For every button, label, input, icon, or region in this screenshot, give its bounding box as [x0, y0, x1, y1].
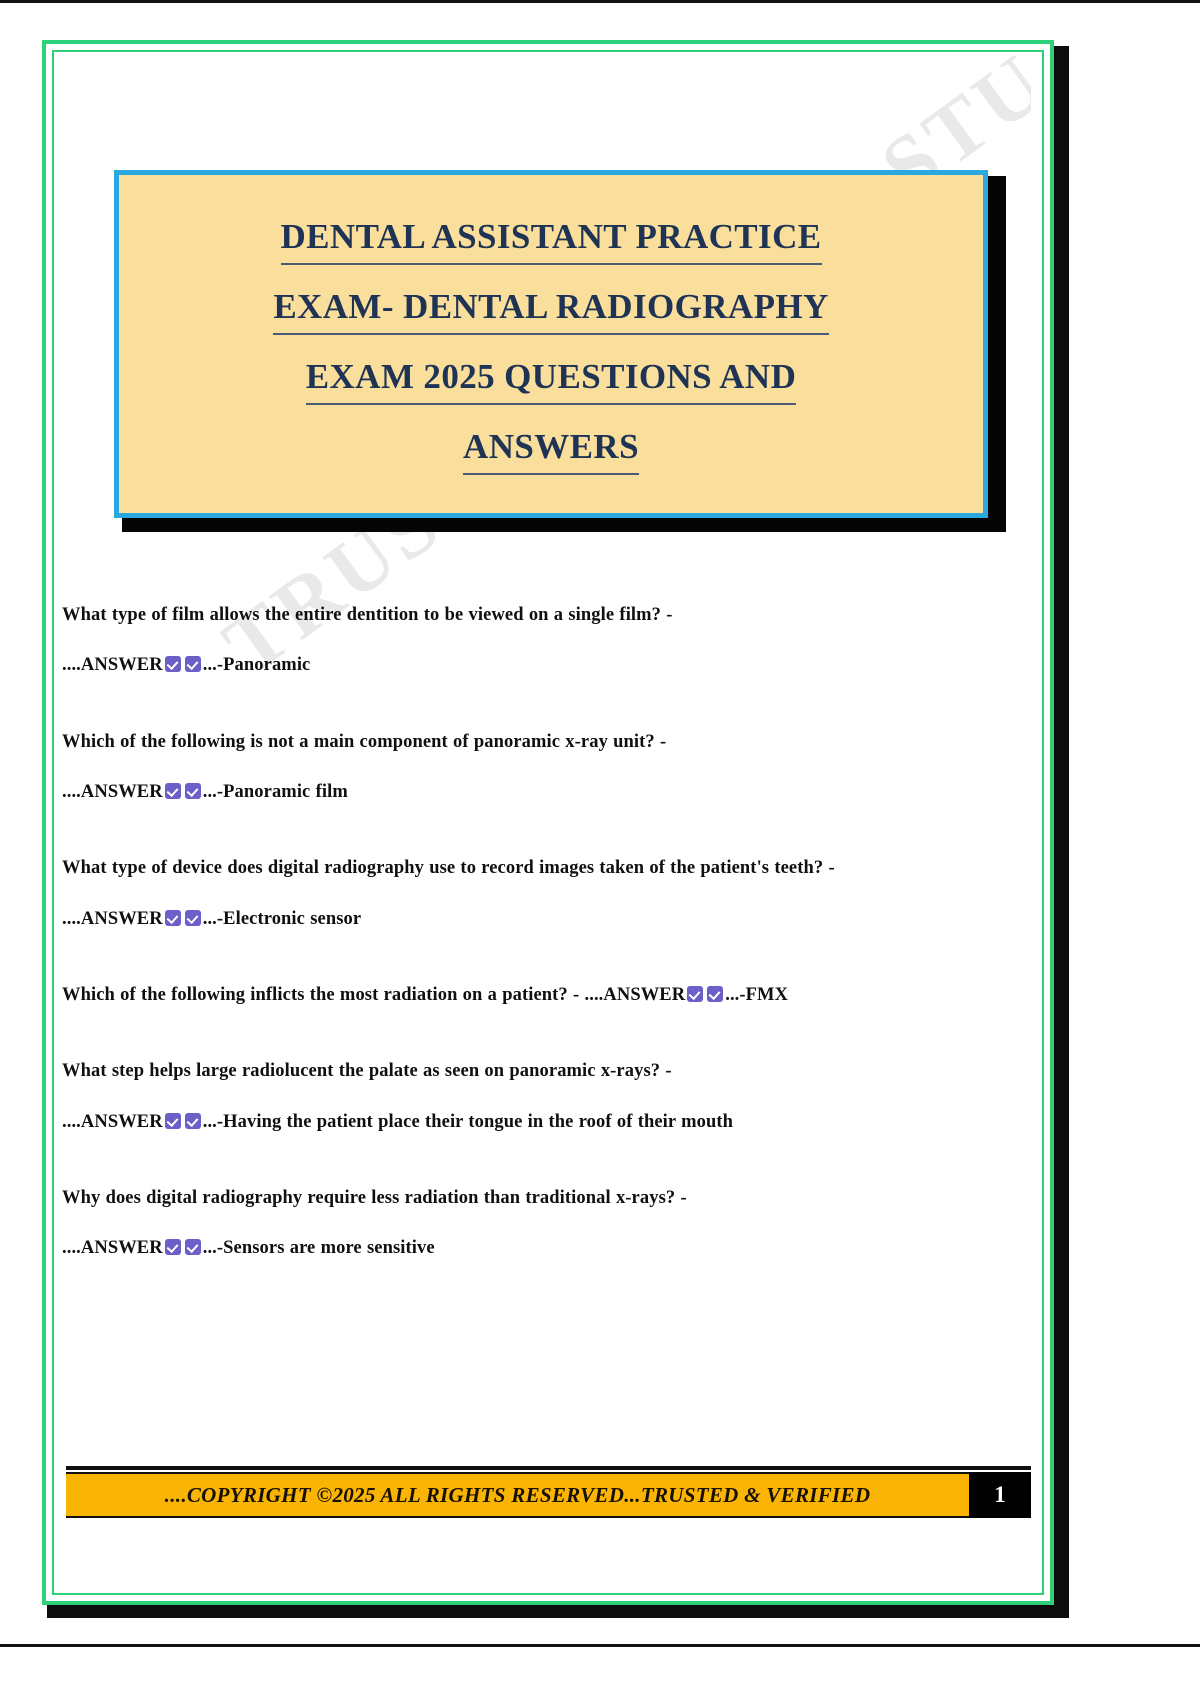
title-banner: DENTAL ASSISTANT PRACTICE EXAM- DENTAL R…: [114, 170, 988, 518]
answer-separator: ...-: [203, 909, 223, 929]
qa-question: Why does digital radiography require les…: [62, 1173, 902, 1223]
footer-copyright-bar: ....COPYRIGHT ©2025 ALL RIGHTS RESERVED.…: [66, 1472, 969, 1518]
qa-answer: Sensors are more sensitive: [223, 1238, 435, 1258]
check-box-icon: [165, 1239, 181, 1255]
check-box-icon: [707, 986, 723, 1002]
qa-item: What type of device does digital radiogr…: [62, 843, 902, 944]
canvas-top-rule: [0, 0, 1200, 3]
page-title-line-4: ANSWERS: [463, 419, 639, 475]
qa-item: Which of the following inflicts the most…: [62, 970, 902, 1020]
qa-question: What type of film allows the entire dent…: [62, 590, 902, 640]
qa-answer-line: ....ANSWER...-Sensors are more sensitive: [62, 1223, 902, 1273]
check-box-icon: [165, 656, 181, 672]
qa-answer: FMX: [746, 985, 788, 1005]
answer-prefix: ....ANSWER: [62, 655, 163, 675]
check-box-icon: [687, 986, 703, 1002]
page-title-line-1: DENTAL ASSISTANT PRACTICE: [281, 209, 822, 265]
qa-answer: Electronic sensor: [223, 909, 361, 929]
page-number-box: 1: [969, 1472, 1031, 1518]
qa-question: Which of the following is not a main com…: [62, 717, 902, 767]
answer-separator: ...-: [203, 655, 223, 675]
page-title-line-2: EXAM- DENTAL RADIOGRAPHY: [273, 279, 828, 335]
footer-divider: [66, 1466, 1031, 1470]
check-box-icon: [185, 910, 201, 926]
check-box-icon: [185, 783, 201, 799]
qa-item: What type of film allows the entire dent…: [62, 590, 902, 691]
answer-prefix: ....ANSWER: [585, 985, 686, 1005]
document-page: TRUSTED BY TOP STUDENT DENTAL ASSISTANT …: [0, 0, 1200, 1700]
answer-prefix: ....ANSWER: [62, 1112, 163, 1132]
answer-separator: ...-: [203, 1112, 223, 1132]
qa-item: What step helps large radiolucent the pa…: [62, 1046, 902, 1147]
qa-item: Which of the following is not a main com…: [62, 717, 902, 818]
qa-question-answer-flow: Which of the following inflicts the most…: [62, 970, 902, 1020]
check-box-icon: [185, 1113, 201, 1129]
answer-separator: ...-: [725, 985, 745, 1005]
answer-separator: ...-: [203, 1238, 223, 1258]
qa-answer-line: ....ANSWER...-Panoramic film: [62, 767, 902, 817]
check-box-icon: [185, 656, 201, 672]
answer-prefix: ....ANSWER: [62, 1238, 163, 1258]
page-title-line-3: EXAM 2025 QUESTIONS AND: [306, 349, 797, 405]
page-footer: ....COPYRIGHT ©2025 ALL RIGHTS RESERVED.…: [66, 1472, 1031, 1518]
qa-question: What type of device does digital radiogr…: [62, 858, 835, 878]
check-box-icon: [165, 783, 181, 799]
answer-separator: ...-: [203, 782, 223, 802]
qa-question: Which of the following inflicts the most…: [62, 985, 579, 1005]
page-number: 1: [994, 1482, 1006, 1508]
answer-prefix: ....ANSWER: [62, 909, 163, 929]
qa-answer: Panoramic: [223, 655, 310, 675]
check-box-icon: [165, 910, 181, 926]
canvas-bottom-rule: [0, 1644, 1200, 1647]
qa-answer-line: ....ANSWER...-Panoramic: [62, 640, 902, 690]
check-box-icon: [165, 1113, 181, 1129]
answer-prefix: ....ANSWER: [62, 782, 163, 802]
qa-list: What type of film allows the entire dent…: [62, 590, 902, 1299]
footer-copyright-text: ....COPYRIGHT ©2025 ALL RIGHTS RESERVED.…: [165, 1483, 871, 1508]
qa-answer: Panoramic film: [223, 782, 348, 802]
qa-answer-line: ....ANSWER...-Having the patient place t…: [62, 1097, 902, 1147]
qa-answer: Having the patient place their tongue in…: [223, 1112, 733, 1132]
qa-item: Why does digital radiography require les…: [62, 1173, 902, 1274]
qa-question-answer-flow: What type of device does digital radiogr…: [62, 843, 902, 944]
check-box-icon: [185, 1239, 201, 1255]
qa-question: What step helps large radiolucent the pa…: [62, 1046, 902, 1096]
